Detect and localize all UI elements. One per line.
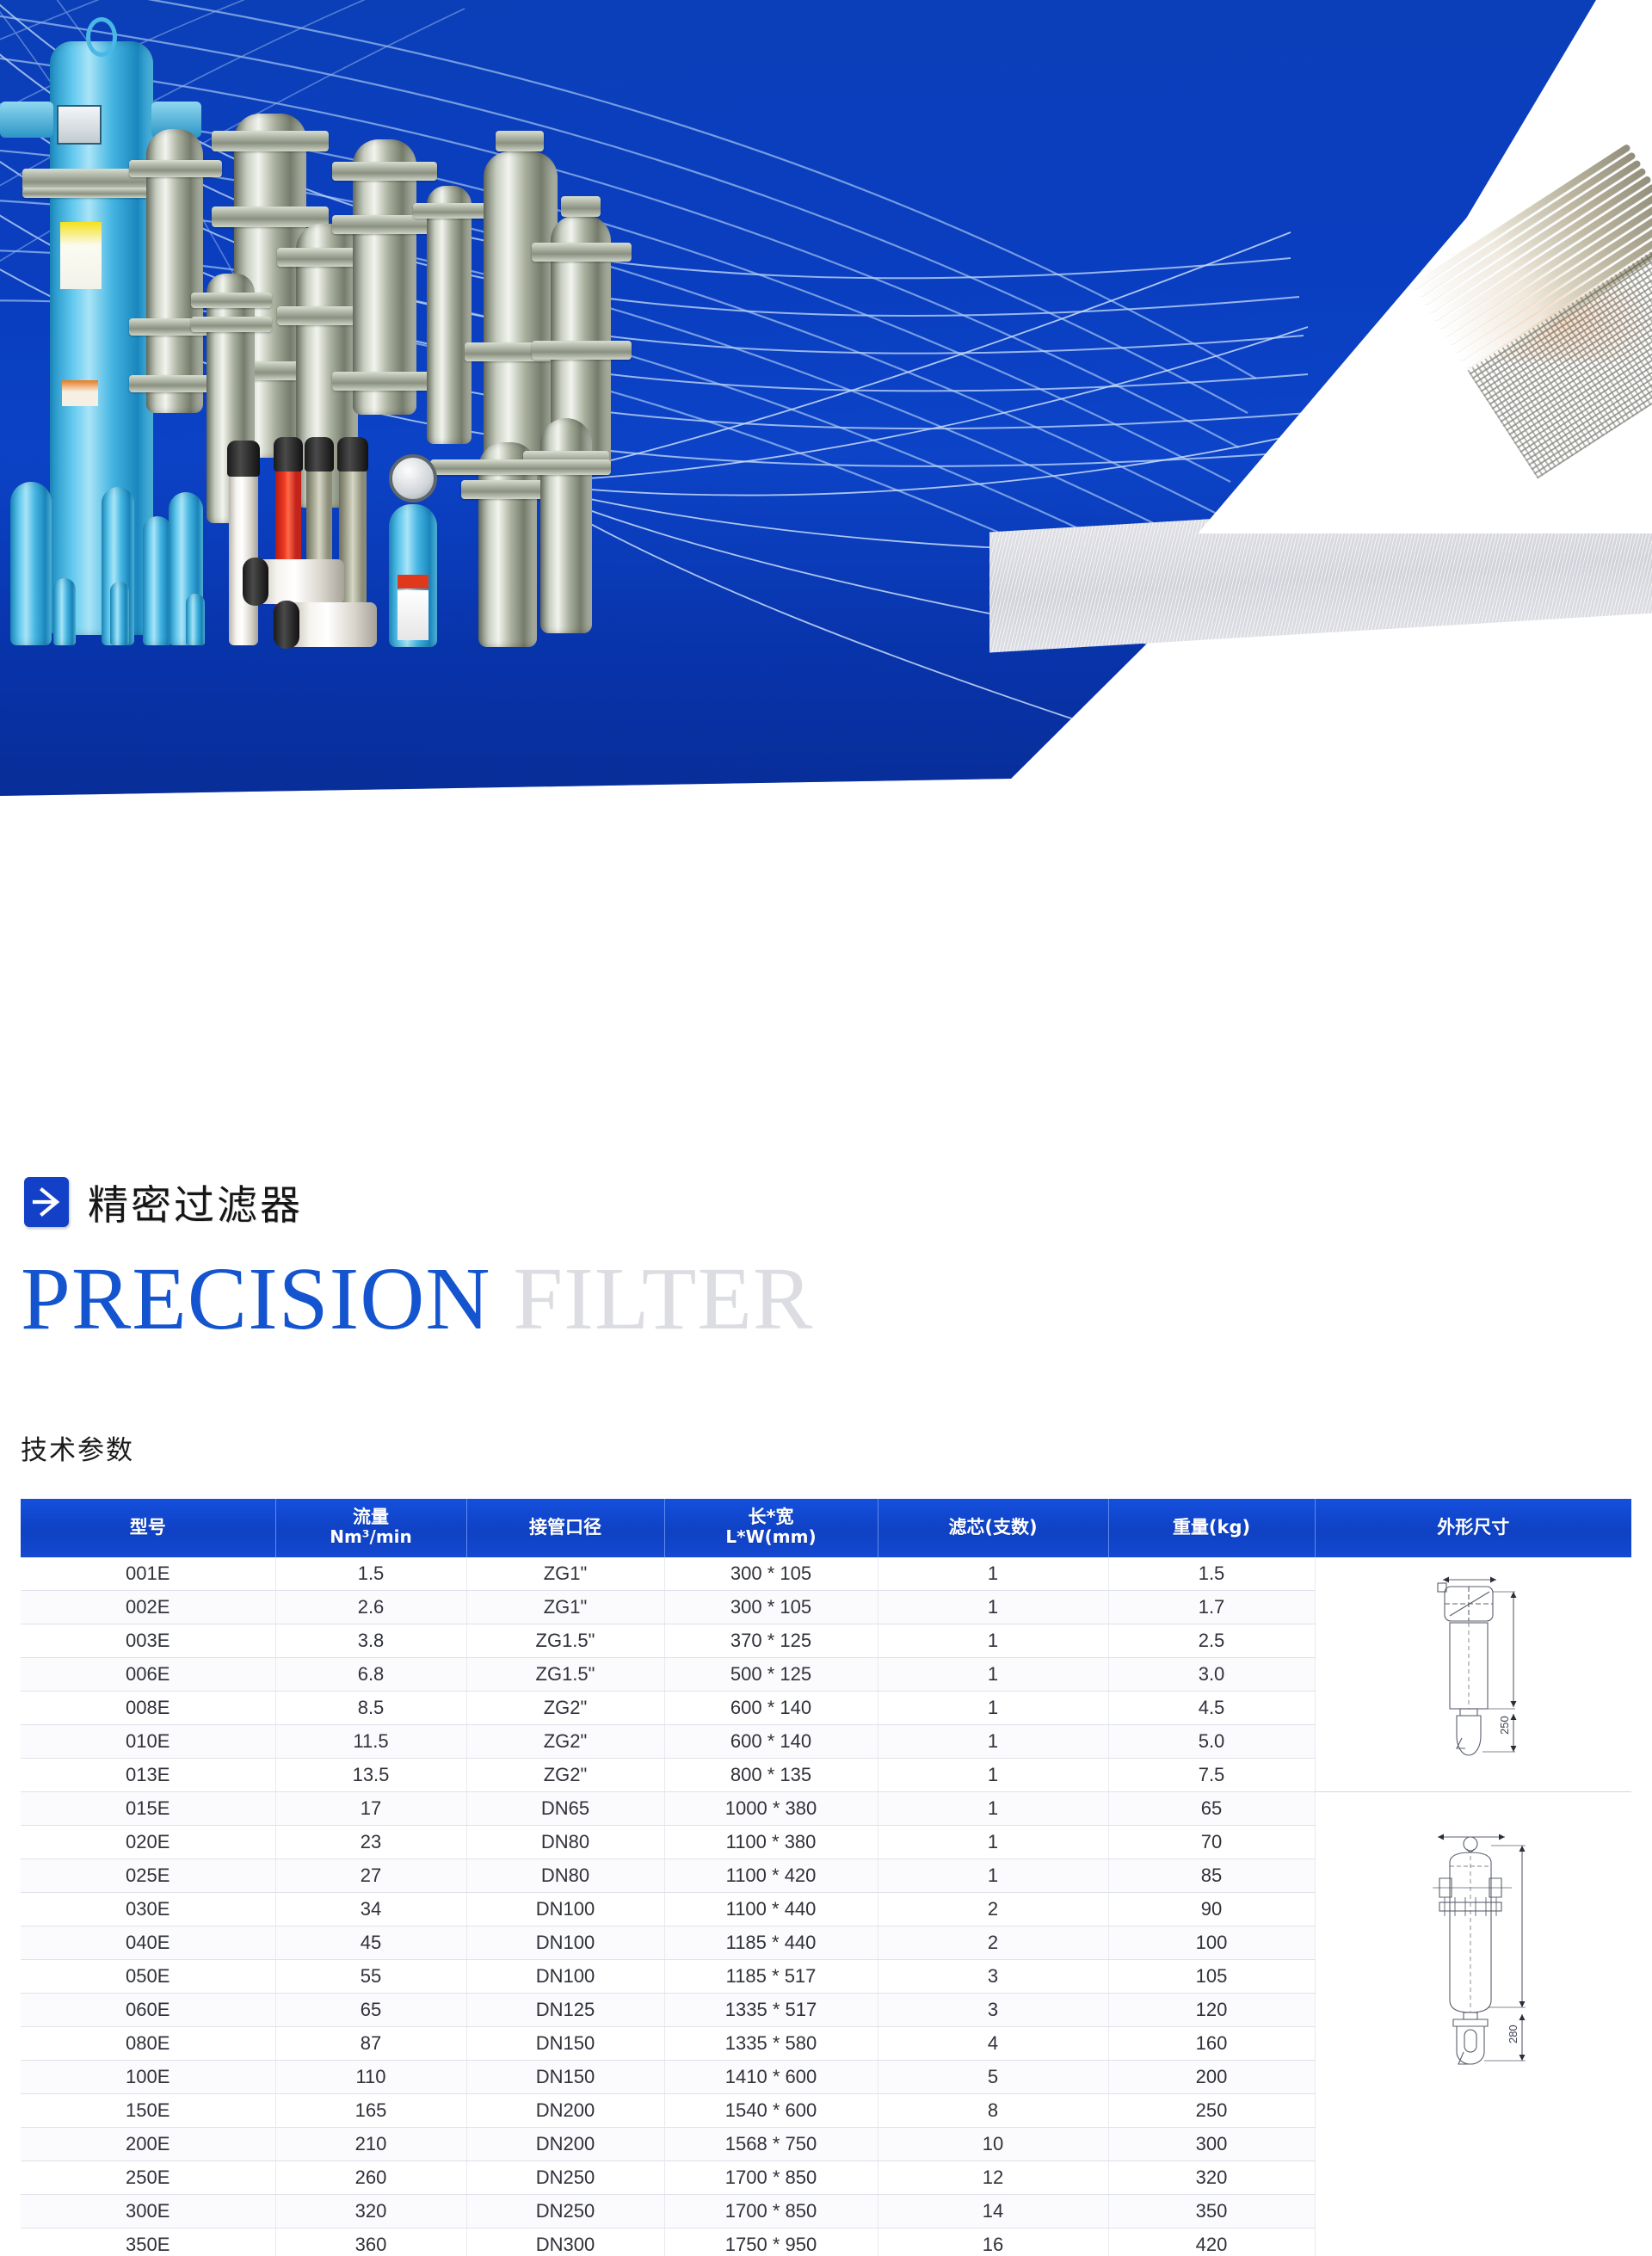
product-cartridge-endcap [305, 437, 334, 472]
lw-cell: 300 * 105 [664, 1557, 878, 1591]
weight-cell: 2.5 [1108, 1624, 1315, 1657]
flow-cell: 45 [275, 1926, 466, 1959]
weight-cell: 350 [1108, 2194, 1315, 2228]
product-cyan-housing [143, 516, 172, 645]
cores-cell: 2 [878, 1892, 1108, 1926]
lw-cell: 1410 * 600 [664, 2060, 878, 2093]
weight-cell: 5.0 [1108, 1724, 1315, 1758]
table-row: 015E17DN651000 * 380165 [21, 1791, 1631, 1825]
cores-cell: 8 [878, 2093, 1108, 2127]
flow-cell: 2.6 [275, 1590, 466, 1624]
flow-cell: 320 [275, 2194, 466, 2228]
weight-cell: 200 [1108, 2060, 1315, 2093]
th-dimensions: 外形尺寸 [1315, 1499, 1631, 1557]
weight-cell: 420 [1108, 2228, 1315, 2256]
port-cell: DN80 [466, 1858, 664, 1892]
th-model: 型号 [21, 1499, 275, 1557]
flow-cell: 13.5 [275, 1758, 466, 1791]
weight-cell: 100 [1108, 1926, 1315, 1959]
cores-cell: 3 [878, 1959, 1108, 1993]
flow-cell: 65 [275, 1993, 466, 2026]
product-cyan-housing [186, 594, 205, 645]
flow-cell: 360 [275, 2228, 466, 2256]
model-cell: 350E [21, 2228, 275, 2256]
flow-cell: 87 [275, 2026, 466, 2060]
port-cell: DN150 [466, 2060, 664, 2093]
product-cartridge-endcap [337, 437, 368, 472]
th-cores: 滤芯(支数) [878, 1499, 1108, 1557]
flow-cell: 55 [275, 1959, 466, 1993]
tech-params-label: 技术参数 [21, 1428, 134, 1467]
product-cartridge-lying [287, 602, 377, 647]
flow-cell: 6.8 [275, 1657, 466, 1691]
port-cell: ZG1" [466, 1557, 664, 1591]
product-label-white [398, 590, 428, 640]
model-cell: 030E [21, 1892, 275, 1926]
catalog-page: 精密过滤器 PRECISIONFILTER 技术参数 型号 流量Nm³/min … [0, 0, 1652, 2256]
port-cell: ZG2" [466, 1691, 664, 1724]
dim-label-large: 280 [1507, 2025, 1519, 2043]
product-cartridge-endcap [243, 558, 268, 606]
flow-cell: 165 [275, 2093, 466, 2127]
product-cyan-vessel-eyebolt [86, 17, 117, 57]
model-cell: 250E [21, 2160, 275, 2194]
weight-cell: 4.5 [1108, 1691, 1315, 1724]
product-flange [332, 372, 437, 391]
flow-cell: 210 [275, 2127, 466, 2160]
product-flange [413, 203, 489, 219]
dimension-drawing-cell: 250 [1315, 1557, 1631, 1792]
model-cell: 100E [21, 2060, 275, 2093]
port-cell: DN100 [466, 1926, 664, 1959]
spec-table: 型号 流量Nm³/min 接管口径 长*宽L*W(mm) 滤芯(支数) 重量(k… [21, 1499, 1631, 2256]
section-title-row: 精密过滤器 [24, 1172, 303, 1231]
port-cell: DN200 [466, 2093, 664, 2127]
lw-cell: 370 * 125 [664, 1624, 878, 1657]
lw-cell: 1700 * 850 [664, 2194, 878, 2228]
lw-cell: 1100 * 420 [664, 1858, 878, 1892]
product-flange [561, 196, 601, 217]
weight-cell: 160 [1108, 2026, 1315, 2060]
port-cell: DN125 [466, 1993, 664, 2026]
port-cell: DN80 [466, 1825, 664, 1858]
table-body: 001E1.5ZG1"300 * 10511.5 [21, 1557, 1631, 2256]
lw-cell: 600 * 140 [664, 1691, 878, 1724]
spec-table-wrapper: 型号 流量Nm³/min 接管口径 长*宽L*W(mm) 滤芯(支数) 重量(k… [21, 1499, 1631, 2256]
weight-cell: 70 [1108, 1825, 1315, 1858]
product-cross-pipe [430, 459, 611, 475]
cores-cell: 12 [878, 2160, 1108, 2194]
model-cell: 003E [21, 1624, 275, 1657]
product-flange [332, 162, 437, 181]
th-weight: 重量(kg) [1108, 1499, 1315, 1557]
flow-cell: 17 [275, 1791, 466, 1825]
weight-cell: 320 [1108, 2160, 1315, 2194]
model-cell: 200E [21, 2127, 275, 2160]
product-cyan-housing [53, 578, 76, 645]
weight-cell: 1.7 [1108, 1590, 1315, 1624]
product-cartridge-endcap [274, 437, 303, 472]
model-cell: 002E [21, 1590, 275, 1624]
port-cell: DN250 [466, 2194, 664, 2228]
cores-cell: 3 [878, 1993, 1108, 2026]
weight-cell: 105 [1108, 1959, 1315, 1993]
port-cell: ZG1.5" [466, 1624, 664, 1657]
port-cell: DN100 [466, 1959, 664, 1993]
product-cartridge-white [229, 465, 258, 645]
lw-cell: 500 * 125 [664, 1657, 878, 1691]
product-flange [212, 131, 329, 151]
port-cell: DN300 [466, 2228, 664, 2256]
model-cell: 300E [21, 2194, 275, 2228]
model-cell: 010E [21, 1724, 275, 1758]
cores-cell: 1 [878, 1825, 1108, 1858]
weight-cell: 85 [1108, 1858, 1315, 1892]
cores-cell: 14 [878, 2194, 1108, 2228]
weight-cell: 120 [1108, 1993, 1315, 2026]
section-title-en: PRECISIONFILTER [21, 1249, 813, 1349]
pressure-gauge-icon [389, 454, 437, 502]
flow-cell: 23 [275, 1825, 466, 1858]
port-cell: DN200 [466, 2127, 664, 2160]
model-cell: 060E [21, 1993, 275, 2026]
model-cell: 006E [21, 1657, 275, 1691]
cores-cell: 1 [878, 1590, 1108, 1624]
large-filter-outline-drawing: 280 [1391, 1813, 1555, 2071]
model-cell: 013E [21, 1758, 275, 1791]
cores-cell: 5 [878, 2060, 1108, 2093]
weight-cell: 3.0 [1108, 1657, 1315, 1691]
cores-cell: 1 [878, 1758, 1108, 1791]
cores-cell: 1 [878, 1691, 1108, 1724]
small-filter-outline-drawing: 250 [1400, 1569, 1546, 1784]
lw-cell: 1185 * 440 [664, 1926, 878, 1959]
port-cell: ZG2" [466, 1724, 664, 1758]
table-row: 001E1.5ZG1"300 * 10511.5 [21, 1557, 1631, 1591]
product-cartridge-endcap [274, 601, 299, 649]
th-port: 接管口径 [466, 1499, 664, 1557]
lw-cell: 1540 * 600 [664, 2093, 878, 2127]
model-cell: 025E [21, 1858, 275, 1892]
flow-cell: 27 [275, 1858, 466, 1892]
weight-cell: 250 [1108, 2093, 1315, 2127]
model-cell: 001E [21, 1557, 275, 1591]
product-cartridge-endcap [227, 441, 260, 477]
product-cyan-housing [110, 582, 129, 645]
flow-cell: 34 [275, 1892, 466, 1926]
weight-cell: 300 [1108, 2127, 1315, 2160]
weight-cell: 90 [1108, 1892, 1315, 1926]
model-cell: 020E [21, 1825, 275, 1858]
table-header-row: 型号 流量Nm³/min 接管口径 长*宽L*W(mm) 滤芯(支数) 重量(k… [21, 1499, 1631, 1557]
flow-cell: 11.5 [275, 1724, 466, 1758]
port-cell: ZG1" [466, 1590, 664, 1624]
product-flange [532, 243, 632, 262]
model-cell: 015E [21, 1791, 275, 1825]
product-nameplate [57, 105, 102, 145]
lw-cell: 1750 * 950 [664, 2228, 878, 2256]
cores-cell: 2 [878, 1926, 1108, 1959]
model-cell: 008E [21, 1691, 275, 1724]
port-cell: ZG2" [466, 1758, 664, 1791]
product-inlet-port [0, 102, 53, 138]
port-cell: DN150 [466, 2026, 664, 2060]
weight-cell: 7.5 [1108, 1758, 1315, 1791]
model-cell: 080E [21, 2026, 275, 2060]
lw-cell: 1335 * 517 [664, 1993, 878, 2026]
flow-cell: 3.8 [275, 1624, 466, 1657]
arrow-right-icon [24, 1177, 69, 1227]
cores-cell: 4 [878, 2026, 1108, 2060]
title-filter: FILTER [513, 1249, 813, 1348]
product-flange [129, 160, 222, 177]
product-flange [191, 317, 272, 332]
port-cell: DN100 [466, 1892, 664, 1926]
product-label-orange [62, 380, 98, 406]
th-lw: 长*宽L*W(mm) [664, 1499, 878, 1557]
product-cyan-housing [10, 482, 52, 645]
lw-cell: 1100 * 440 [664, 1892, 878, 1926]
cores-cell: 1 [878, 1624, 1108, 1657]
weight-cell: 65 [1108, 1791, 1315, 1825]
section-title-cn: 精密过滤器 [88, 1172, 303, 1231]
cores-cell: 10 [878, 2127, 1108, 2160]
title-precision: PRECISION [21, 1249, 490, 1348]
cores-cell: 16 [878, 2228, 1108, 2256]
lw-cell: 1335 * 580 [664, 2026, 878, 2060]
cores-cell: 1 [878, 1557, 1108, 1591]
cores-cell: 1 [878, 1791, 1108, 1825]
product-label-yellow [60, 222, 102, 289]
hero-banner [0, 0, 1652, 1131]
cores-cell: 1 [878, 1657, 1108, 1691]
dim-label-small: 250 [1498, 1716, 1511, 1735]
flow-cell: 110 [275, 2060, 466, 2093]
lw-cell: 800 * 135 [664, 1758, 878, 1791]
weight-cell: 1.5 [1108, 1557, 1315, 1591]
product-flange [496, 131, 544, 151]
lw-cell: 1000 * 380 [664, 1791, 878, 1825]
port-cell: ZG1.5" [466, 1657, 664, 1691]
model-cell: 150E [21, 2093, 275, 2127]
flow-cell: 8.5 [275, 1691, 466, 1724]
model-cell: 050E [21, 1959, 275, 1993]
flow-cell: 260 [275, 2160, 466, 2194]
lw-cell: 1568 * 750 [664, 2127, 878, 2160]
model-cell: 040E [21, 1926, 275, 1959]
product-steel-vessel [427, 186, 472, 444]
flow-cell: 1.5 [275, 1557, 466, 1591]
cores-cell: 1 [878, 1858, 1108, 1892]
th-flow: 流量Nm³/min [275, 1499, 466, 1557]
cores-cell: 1 [878, 1724, 1108, 1758]
dimension-drawing-cell: 280 [1315, 1791, 1631, 2256]
lw-cell: 300 * 105 [664, 1590, 878, 1624]
product-flange [191, 293, 272, 308]
product-label-red [398, 575, 428, 589]
lw-cell: 600 * 140 [664, 1724, 878, 1758]
product-flange [212, 206, 329, 227]
lw-cell: 1185 * 517 [664, 1959, 878, 1993]
port-cell: DN250 [466, 2160, 664, 2194]
port-cell: DN65 [466, 1791, 664, 1825]
lw-cell: 1100 * 380 [664, 1825, 878, 1858]
lw-cell: 1700 * 850 [664, 2160, 878, 2194]
product-flange [532, 341, 632, 360]
